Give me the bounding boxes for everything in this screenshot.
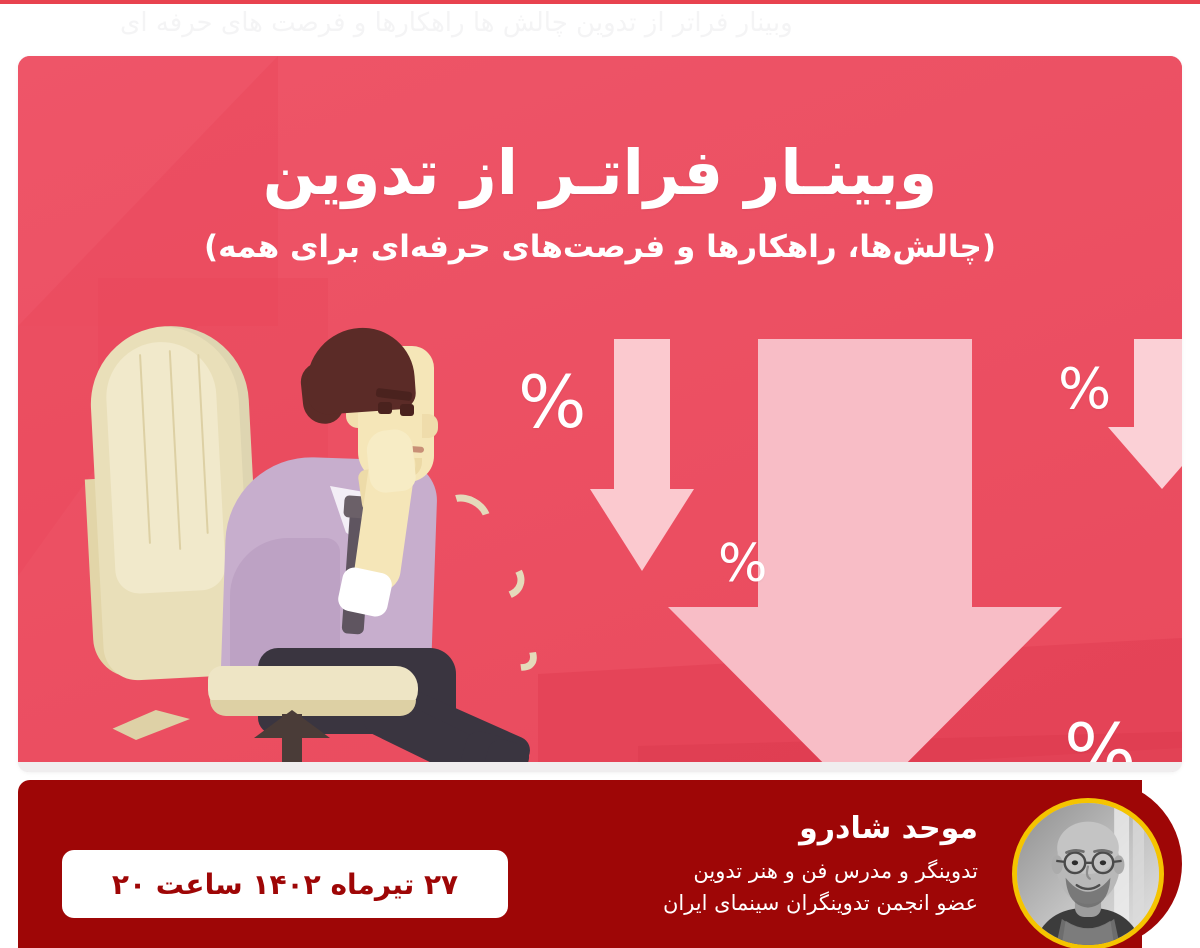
man-eye [400,404,414,416]
arrow-shaft [758,339,972,609]
arrow-head [668,607,1062,772]
percent-icon: % [1058,362,1111,418]
date-badge-label: ۲۷ تیرماه ۱۴۰۲ ساعت ۲۰ [112,868,458,901]
chair-backrest-inner [104,339,227,594]
poster-page: وبینار فراتر از تدوین چالش ها راهکارها و… [0,0,1200,948]
arrow-head [1108,427,1182,489]
man-hand [365,428,417,494]
poster-subtitle: (چالش‌ها، راهکارها و فرصت‌های حرفه‌ای بر… [18,229,1182,266]
date-badge[interactable]: ۲۷ تیرماه ۱۴۰۲ ساعت ۲۰ [62,850,508,918]
arrow-shaft [614,339,670,491]
businessman-illustration [78,318,578,772]
hero-banner: % % % % [18,56,1182,772]
man-hair [303,324,417,415]
avatar-portrait-icon [1017,803,1159,945]
paper-on-floor [100,710,190,740]
down-arrow-small-right-icon [1108,339,1182,487]
headline-block: وبینـار فراتـر از تدوین (چالش‌ها، راهکار… [18,138,1182,267]
paper-curl [472,611,546,680]
percent-icon: % [718,538,767,590]
ghost-text: وبینار فراتر از تدوین چالش ها راهکارها و… [120,8,793,38]
ghost-text-strip: وبینار فراتر از تدوین چالش ها راهکارها و… [0,4,1200,46]
poster-title: وبینـار فراتـر از تدوین [18,138,1182,207]
man-eye [378,402,392,414]
man-nose [422,414,438,438]
speaker-name: موحد شادرو [558,810,978,848]
paper-curl [434,486,499,546]
speaker-role-line-1: تدوینگر و مدرس فن و هنر تدوین [558,856,978,886]
arrow-shaft [1134,339,1182,429]
speaker-role-line-2: عضو انجمن تدوینگران سینمای ایران [558,888,978,918]
speaker-info: موحد شادرو تدوینگر و مدرس فن و هنر تدوین… [558,810,978,918]
avatar [1012,798,1164,948]
hero-bottom-rail [18,762,1182,772]
paper-curl [465,547,531,607]
